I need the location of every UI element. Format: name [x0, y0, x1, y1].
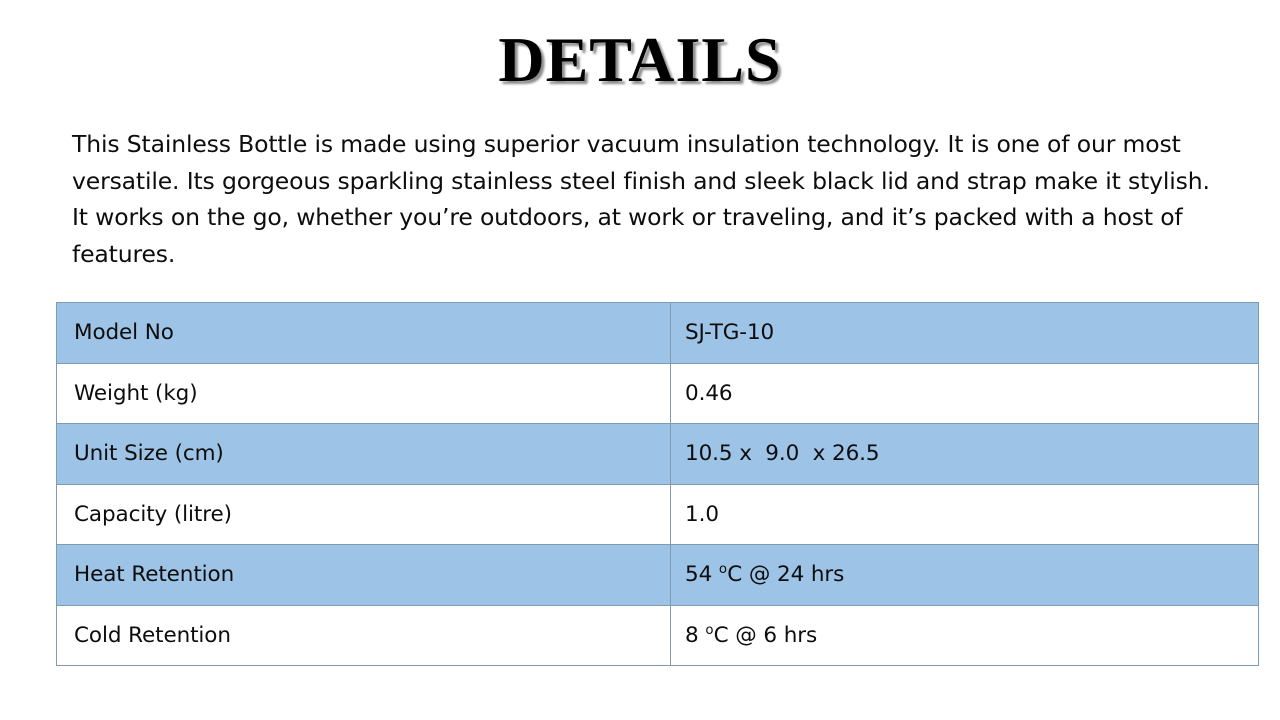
- table-row: Cold Retention 8 oC @ 6 hrs: [57, 605, 1259, 666]
- spec-label-weight: Weight (kg): [57, 363, 671, 424]
- heat-retention-rest: C @ 24 hrs: [727, 562, 844, 587]
- cold-retention-number: 8: [685, 623, 705, 648]
- specification-table: Model No SJ-TG-10 Weight (kg) 0.46 Unit …: [56, 302, 1259, 666]
- table-row: Capacity (litre) 1.0: [57, 484, 1259, 545]
- degree-symbol-icon: o: [719, 562, 727, 577]
- specification-table-body: Model No SJ-TG-10 Weight (kg) 0.46 Unit …: [57, 303, 1259, 666]
- slide-canvas: DETAILS This Stainless Bottle is made us…: [0, 0, 1280, 720]
- heat-retention-number: 54: [685, 562, 719, 587]
- spec-label-capacity: Capacity (litre): [57, 484, 671, 545]
- spec-value-weight: 0.46: [671, 363, 1259, 424]
- spec-label-cold-retention: Cold Retention: [57, 605, 671, 666]
- spec-value-unit-size: 10.5 x 9.0 x 26.5: [671, 424, 1259, 485]
- table-row: Heat Retention 54 oC @ 24 hrs: [57, 545, 1259, 606]
- cold-retention-rest: C @ 6 hrs: [714, 623, 817, 648]
- table-row: Unit Size (cm) 10.5 x 9.0 x 26.5: [57, 424, 1259, 485]
- degree-symbol-icon: o: [705, 623, 713, 638]
- table-row: Model No SJ-TG-10: [57, 303, 1259, 364]
- product-description-paragraph: This Stainless Bottle is made using supe…: [72, 126, 1218, 272]
- spec-label-unit-size: Unit Size (cm): [57, 424, 671, 485]
- spec-value-heat-retention: 54 oC @ 24 hrs: [671, 545, 1259, 606]
- table-row: Weight (kg) 0.46: [57, 363, 1259, 424]
- spec-value-capacity: 1.0: [671, 484, 1259, 545]
- page-title: DETAILS: [0, 24, 1280, 96]
- spec-value-cold-retention: 8 oC @ 6 hrs: [671, 605, 1259, 666]
- spec-label-heat-retention: Heat Retention: [57, 545, 671, 606]
- spec-value-model-no: SJ-TG-10: [671, 303, 1259, 364]
- spec-label-model-no: Model No: [57, 303, 671, 364]
